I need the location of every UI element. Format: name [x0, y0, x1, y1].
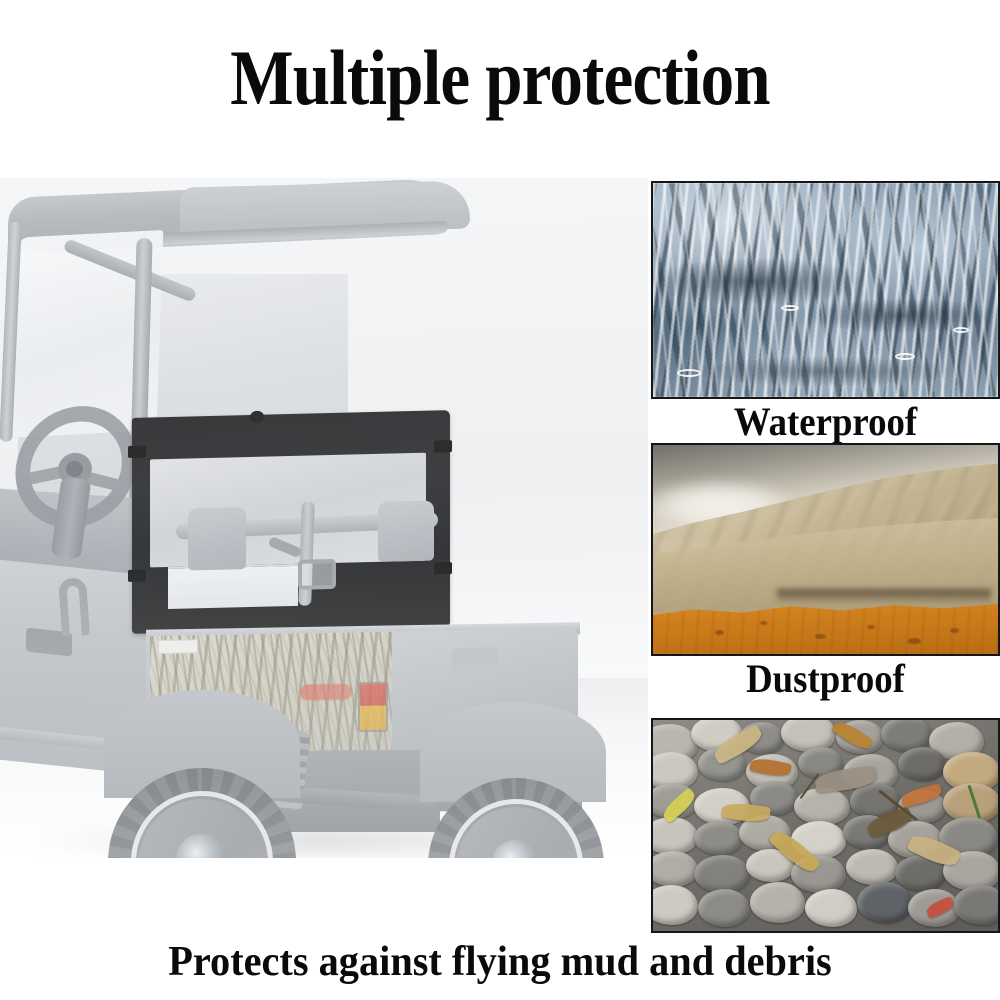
- gravel-pebbles-photo: [651, 718, 1000, 933]
- water-droplet-ring: [781, 305, 799, 311]
- sand-fleck: [908, 638, 921, 644]
- pebble: [898, 747, 946, 781]
- tail-light: [358, 682, 388, 733]
- gear-shifter: [58, 577, 90, 637]
- background-wall-through-window: [168, 564, 298, 609]
- rear-lamp-housing: [452, 648, 498, 675]
- pebble: [805, 889, 857, 927]
- seat-left-through-window: [188, 507, 246, 570]
- mounting-strap: [128, 446, 146, 458]
- feature-caption-waterproof: Waterproof: [665, 400, 986, 444]
- mounting-grommet: [250, 411, 264, 423]
- pebble: [857, 882, 912, 922]
- water-droplet-ring: [677, 369, 701, 377]
- rear-reflector: [300, 684, 352, 701]
- bottom-caption: Protects against flying mud and debris: [20, 938, 980, 986]
- mounting-strap: [434, 562, 452, 574]
- rear-window-panel-product: [132, 410, 450, 634]
- pebble: [698, 889, 750, 927]
- pebble: [651, 851, 698, 887]
- bed-sticker: [158, 639, 198, 654]
- utv-rear-window-photo: [0, 178, 648, 858]
- pebble: [694, 821, 742, 855]
- clear-window-section: [150, 453, 426, 568]
- sand-fleck: [760, 621, 767, 625]
- pebble: [651, 817, 698, 855]
- pebble: [846, 849, 898, 885]
- sand-fleck: [950, 628, 959, 633]
- side-mirror-through-window: [298, 559, 336, 590]
- product-feature-page: Multiple protection: [0, 0, 1000, 1000]
- sand-fleck: [867, 625, 875, 629]
- mounting-strap: [128, 570, 146, 582]
- mounting-strap: [434, 440, 452, 452]
- water-surface-photo: [651, 181, 1000, 399]
- cage-post-through-window: [298, 502, 315, 606]
- water-droplet-ring: [895, 353, 915, 360]
- dust-shadow-line: [777, 589, 991, 604]
- water-dark-bands: [653, 183, 998, 397]
- feature-caption-dustproof: Dustproof: [665, 657, 986, 701]
- water-droplet-ring: [953, 327, 969, 333]
- seat-right-through-window: [378, 501, 434, 562]
- mirror-arm-through-window: [267, 536, 302, 558]
- page-title: Multiple protection: [70, 36, 930, 120]
- utv-illustration: [0, 178, 648, 858]
- pebble: [750, 882, 805, 922]
- steering-center-cap: [66, 461, 83, 477]
- pebble: [953, 885, 1000, 925]
- pebble: [694, 855, 749, 893]
- dust-storm-photo: [651, 443, 1000, 656]
